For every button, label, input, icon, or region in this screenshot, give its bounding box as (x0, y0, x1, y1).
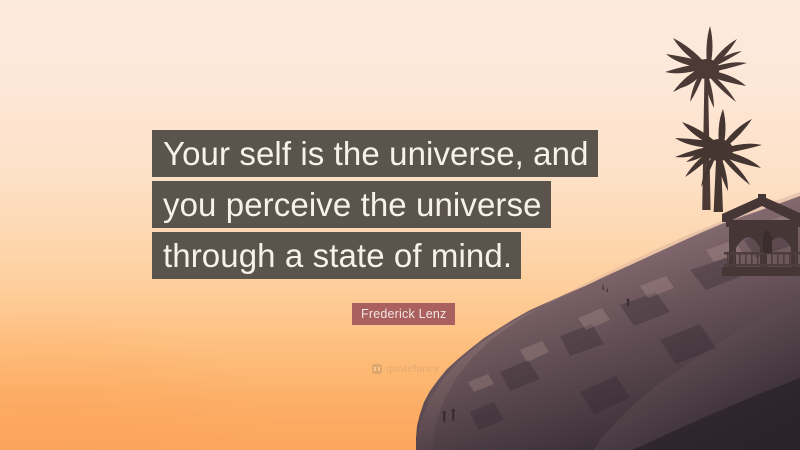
palm-tree-short-icon (675, 109, 762, 212)
quote-line-1: Your self is the universe, and (152, 130, 598, 177)
palm-tree-tall-icon (665, 26, 747, 210)
quote-text: Your self is the universe, and you perce… (152, 130, 672, 283)
quote-line-2: you perceive the universe (152, 181, 551, 228)
quotefancy-logo-icon (372, 364, 382, 374)
author-badge: Frederick Lenz (352, 303, 455, 325)
quote-poster: Your self is the universe, and you perce… (0, 0, 800, 450)
watermark-label: quotefancy (386, 363, 439, 375)
quote-line-3: through a state of mind. (152, 232, 521, 279)
watermark: quotefancy (372, 363, 439, 375)
